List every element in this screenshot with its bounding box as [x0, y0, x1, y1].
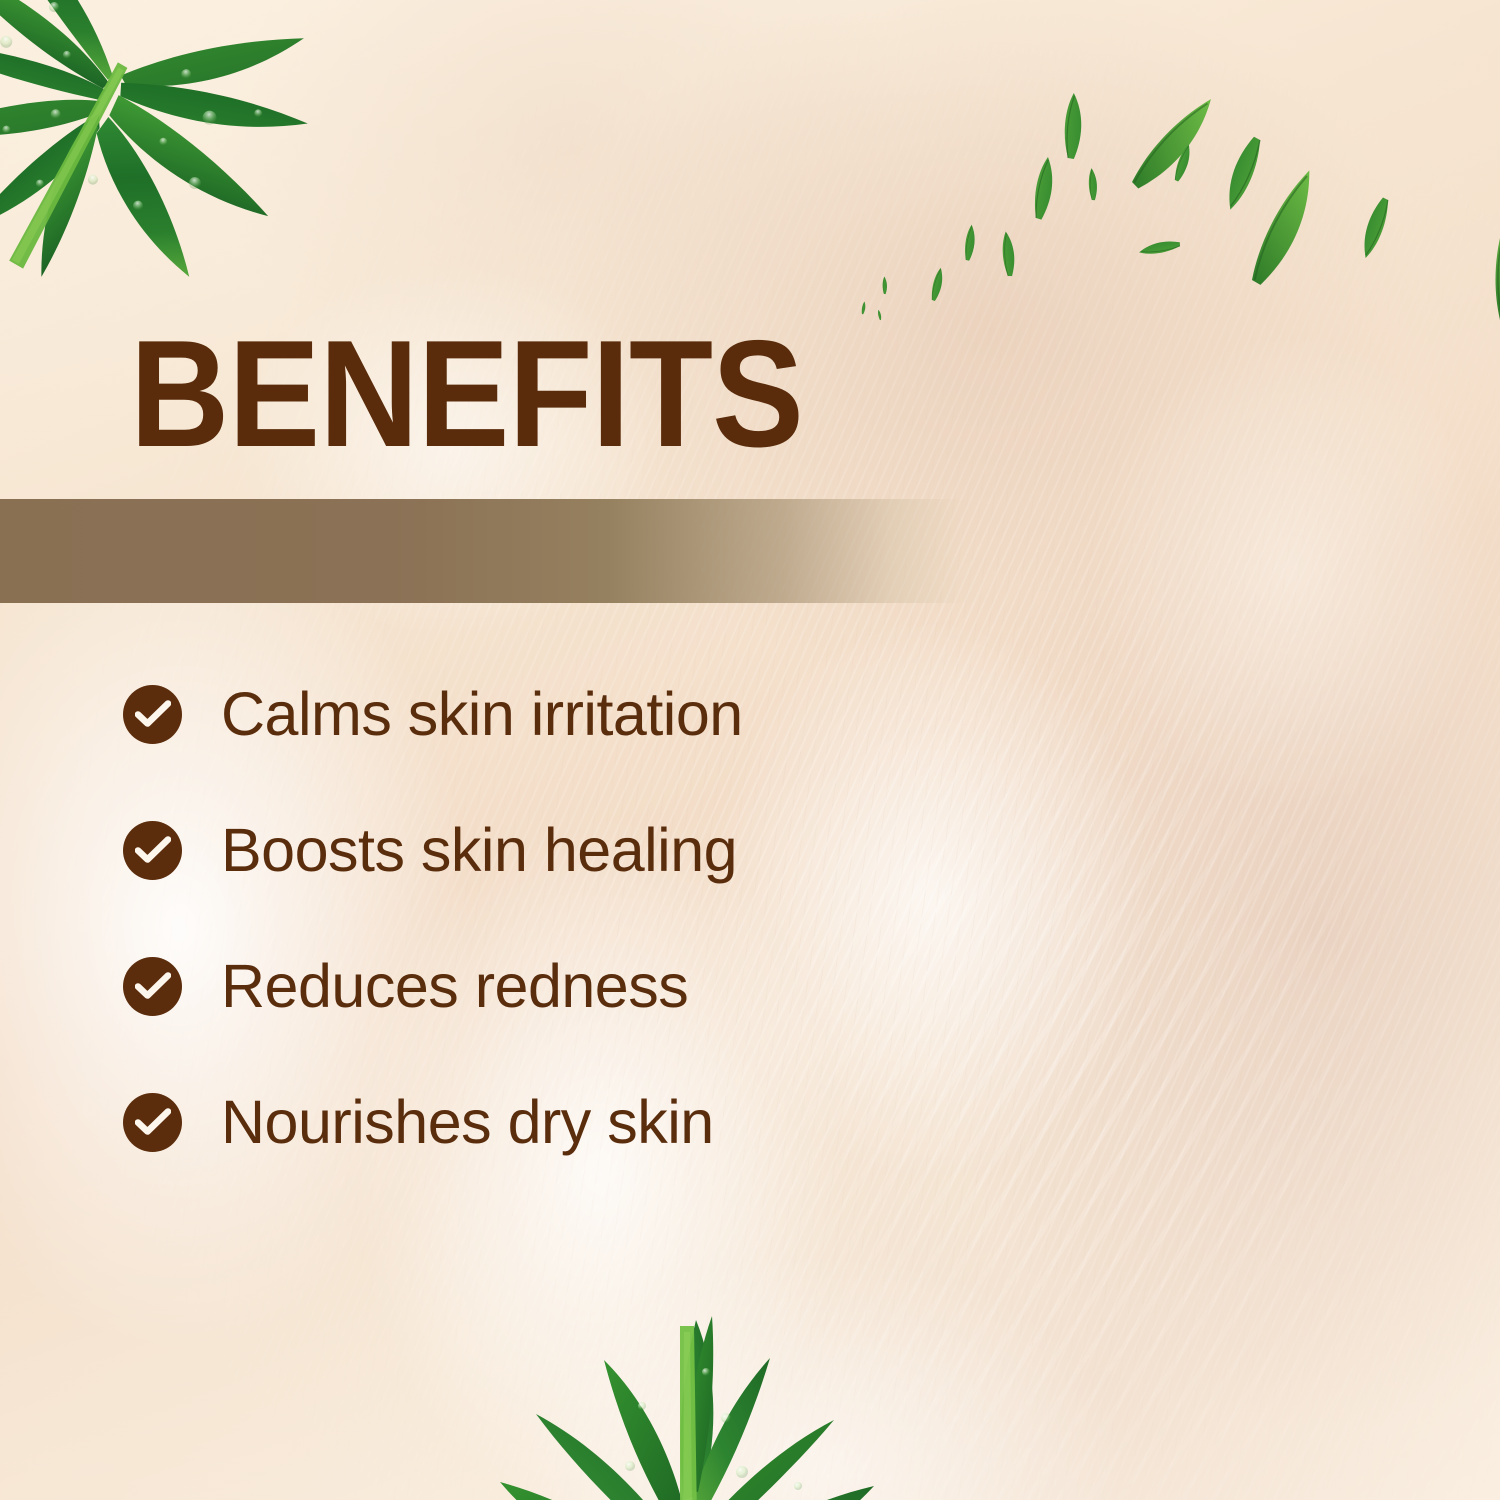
check-circle-icon — [123, 685, 182, 744]
check-circle-icon — [123, 1093, 182, 1152]
monstera-leaf-icon — [470, 1286, 900, 1500]
list-item: Nourishes dry skin — [123, 1092, 1023, 1152]
benefit-label: Calms skin irritation — [221, 684, 743, 745]
list-item: Reduces redness — [123, 956, 1023, 1016]
benefits-list: Calms skin irritation Boosts skin healin… — [123, 684, 1023, 1152]
brown-gradient-band — [0, 499, 980, 603]
benefit-label: Reduces redness — [221, 956, 688, 1017]
list-item: Calms skin irritation — [123, 684, 1023, 744]
page-title: BENEFITS — [130, 318, 803, 470]
mint-leaves-icon — [840, 70, 1500, 320]
check-circle-icon — [123, 821, 182, 880]
benefit-label: Boosts skin healing — [221, 820, 737, 881]
monstera-leaf-icon — [0, 0, 349, 319]
list-item: Boosts skin healing — [123, 820, 1023, 880]
check-circle-icon — [123, 957, 182, 1016]
benefits-poster: BENEFITS Calms skin irritation Boosts sk… — [0, 0, 1500, 1500]
benefit-label: Nourishes dry skin — [221, 1092, 714, 1153]
